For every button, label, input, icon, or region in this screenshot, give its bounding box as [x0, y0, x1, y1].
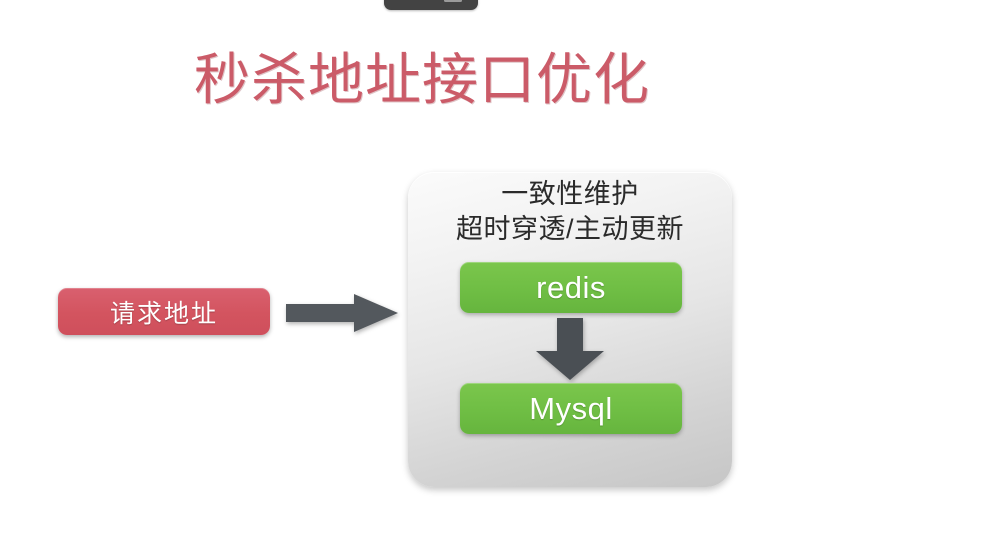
- cache-panel: 一致性维护 超时穿透/主动更新 redis Mysql: [408, 172, 732, 487]
- cache-panel-caption-line-2: 超时穿透/主动更新: [408, 212, 732, 247]
- cache-panel-caption: 一致性维护 超时穿透/主动更新: [408, 177, 732, 247]
- cache-panel-caption-line-1: 一致性维护: [408, 177, 732, 212]
- slide-canvas: 秒杀地址接口优化 请求地址 一致性维护 超时穿透/主动更新 redis Mysq…: [0, 0, 984, 555]
- arrow-down-icon: [536, 318, 604, 380]
- store-node-redis: redis: [460, 262, 682, 313]
- request-address-node: 请求地址: [58, 288, 270, 335]
- drag-handle-icon[interactable]: [444, 0, 462, 2]
- toolbar-pill[interactable]: [384, 0, 478, 10]
- store-node-mysql-label: Mysql: [529, 391, 612, 427]
- page-title: 秒杀地址接口优化: [194, 50, 650, 110]
- store-node-redis-label: redis: [536, 270, 606, 306]
- request-address-label: 请求地址: [110, 294, 218, 330]
- store-node-mysql: Mysql: [460, 383, 682, 434]
- arrow-right-icon: [286, 294, 398, 332]
